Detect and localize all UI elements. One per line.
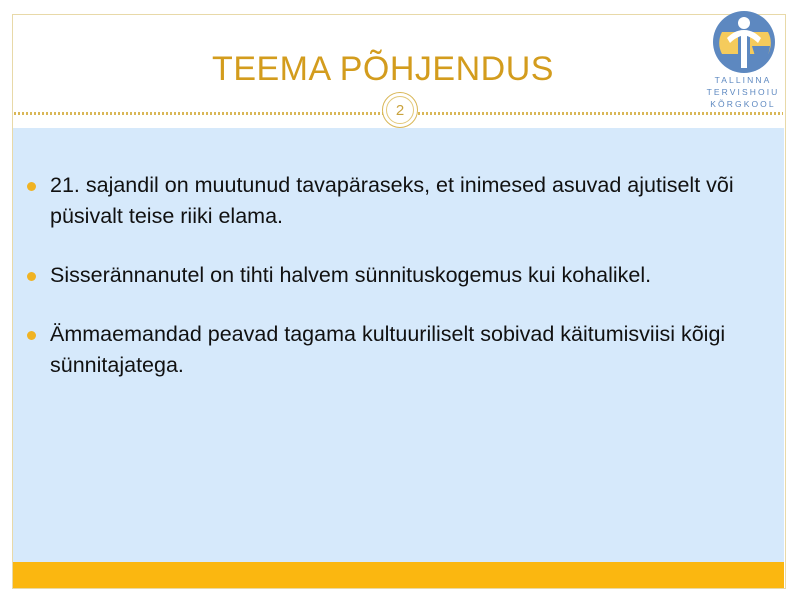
list-item: Sisserännanutel on tihti halvem sünnitus… xyxy=(27,260,767,291)
slide: TEEMA PÕHJENDUS TALLINNA TERVISHOIU KÕRG… xyxy=(0,0,800,600)
list-item: 21. sajandil on muutunud tavapäraseks, e… xyxy=(27,170,767,232)
logo-wordmark-line-3: KÕRGKOOL xyxy=(700,98,786,110)
page-number: 2 xyxy=(386,96,414,124)
bullet-list: 21. sajandil on muutunud tavapäraseks, e… xyxy=(27,170,767,381)
slide-body: 21. sajandil on muutunud tavapäraseks, e… xyxy=(13,128,784,562)
bullet-text: 21. sajandil on muutunud tavapäraseks, e… xyxy=(50,170,750,232)
logo-wordmark-line-2: TERVISHOIU xyxy=(700,86,786,98)
bullet-text: Sisserännanutel on tihti halvem sünnitus… xyxy=(50,260,750,291)
logo-wordmark: TALLINNA TERVISHOIU KÕRGKOOL xyxy=(700,74,786,110)
page-number-badge: 2 xyxy=(382,92,418,128)
footer-accent-bar xyxy=(13,562,784,588)
page-title: TEEMA PÕHJENDUS xyxy=(73,51,693,88)
bullet-text: Ämmaemandad peavad tagama kultuuriliselt… xyxy=(50,319,750,381)
tallinna-tervishoiu-korgkool-logo-icon xyxy=(712,10,776,74)
bullet-dot-icon xyxy=(27,272,36,281)
organization-logo: TALLINNA TERVISHOIU KÕRGKOOL xyxy=(700,10,786,112)
logo-wordmark-line-1: TALLINNA xyxy=(700,74,786,86)
bullet-dot-icon xyxy=(27,182,36,191)
bullet-dot-icon xyxy=(27,331,36,340)
list-item: Ämmaemandad peavad tagama kultuuriliselt… xyxy=(27,319,767,381)
